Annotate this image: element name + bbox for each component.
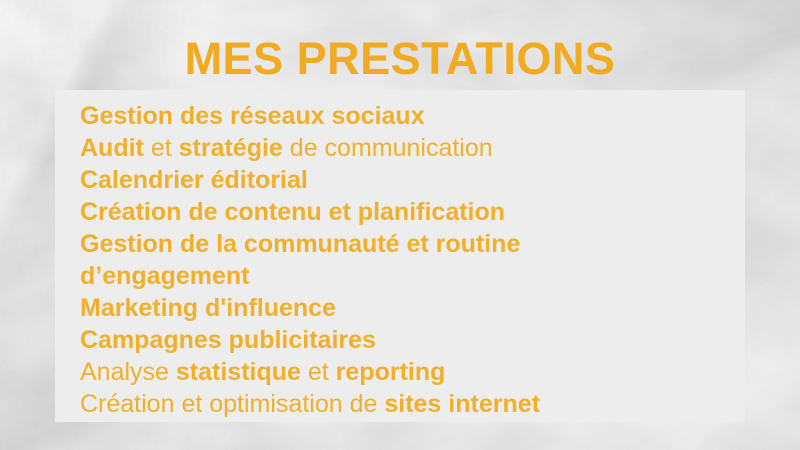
service-item: Création de contenu et planification (80, 196, 735, 228)
services-panel: Gestion des réseaux sociauxAudit et stra… (55, 90, 745, 422)
service-item: Gestion de la communauté et routine (80, 228, 735, 260)
service-text-segment: et (301, 358, 336, 386)
slide-canvas: MES PRESTATIONS Gestion des réseaux soci… (0, 0, 800, 450)
service-text-segment: et (144, 134, 179, 162)
service-text-segment: Analyse (80, 358, 176, 386)
service-item: Gestion des réseaux sociaux (80, 100, 735, 132)
service-text-segment: Création de contenu et planification (80, 198, 505, 226)
service-text-segment: de communication (283, 134, 493, 162)
service-text-segment: d’engagement (80, 262, 249, 290)
service-item: d’engagement (80, 260, 735, 292)
service-text-segment: Audit (80, 134, 144, 162)
services-list: Gestion des réseaux sociauxAudit et stra… (80, 100, 735, 420)
service-text-segment: Création et optimisation de (80, 390, 384, 418)
service-item: Calendrier éditorial (80, 164, 735, 196)
page-title: MES PRESTATIONS (0, 36, 800, 81)
service-text-segment: statistique (176, 358, 301, 386)
service-text-segment: Calendrier éditorial (80, 166, 308, 194)
service-item: Création et optimisation de sites intern… (80, 388, 735, 420)
service-text-segment: Marketing d'influence (80, 294, 336, 322)
service-text-segment: reporting (336, 358, 446, 386)
service-item: Campagnes publicitaires (80, 324, 735, 356)
service-text-segment: Campagnes publicitaires (80, 326, 376, 354)
service-text-segment: sites internet (384, 390, 540, 418)
service-item: Marketing d'influence (80, 292, 735, 324)
service-text-segment: stratégie (179, 134, 283, 162)
service-text-segment: Gestion des réseaux sociaux (80, 102, 425, 130)
service-item: Analyse statistique et reporting (80, 356, 735, 388)
service-text-segment: Gestion de la communauté et routine (80, 230, 520, 258)
service-item: Audit et stratégie de communication (80, 132, 735, 164)
